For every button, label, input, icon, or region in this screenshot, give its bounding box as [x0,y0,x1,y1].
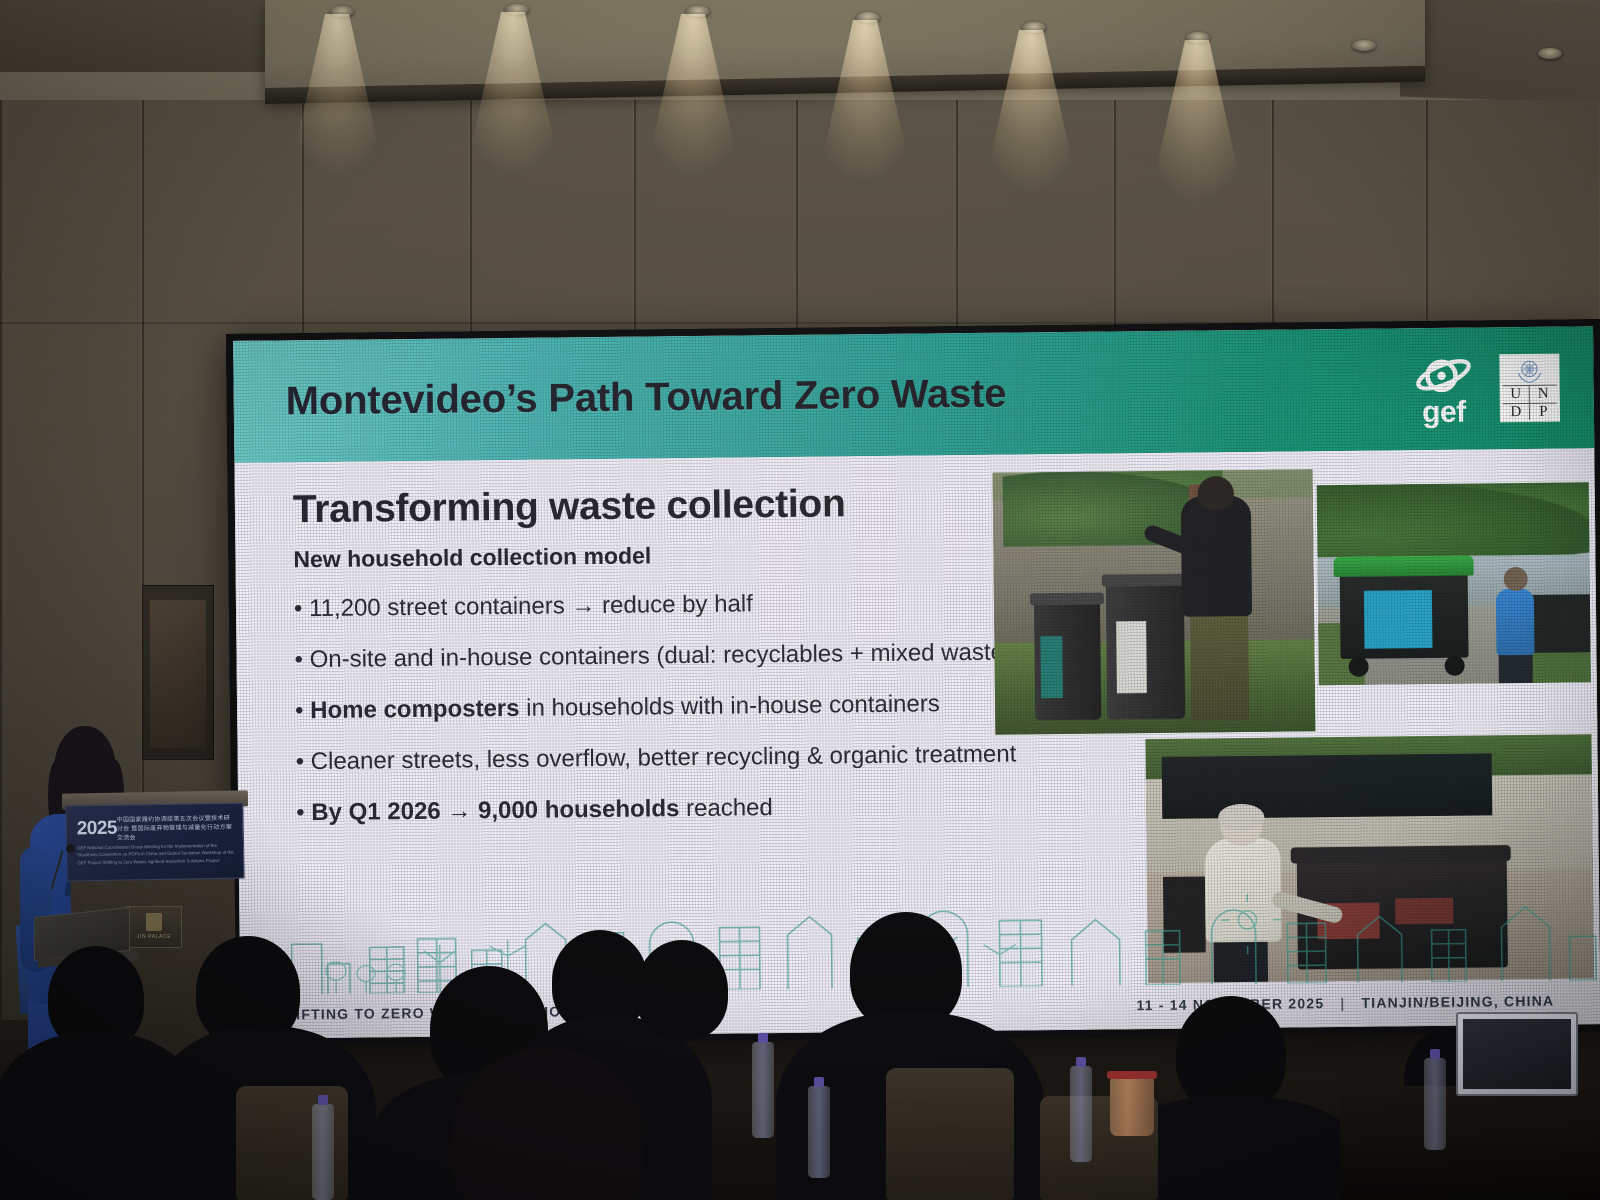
chair-back [886,1068,1014,1200]
slide-footer: SHIFTING TO ZERO WASTE SOLUTIONS WORKSHO… [240,986,1600,1029]
undp-letter-n: N [1530,385,1557,402]
un-emblem-icon [1514,357,1544,385]
ceiling-spotlight-fixture [330,6,354,17]
bullet-item: • By Q1 2026 → 9,000 households reached [296,789,1026,829]
slide-header: Montevideo’s Path Toward Zero Waste gef [233,326,1594,463]
water-bottle [312,1104,334,1200]
bullet-marker: • [296,799,311,826]
water-bottle [752,1042,774,1138]
ceiling-spotlight-fixture [1538,48,1562,59]
undp-logo: U N D P [1499,354,1560,422]
bullet-marker: • [295,748,310,775]
ceiling-right [1400,0,1600,103]
bullet-text: 11,200 street containers → reduce by hal… [309,590,753,622]
undp-letter-p: P [1530,402,1557,419]
podium-banner-chinese-text: 中国国家履约协调组第五次会议暨技术研讨会 暨国际废弃物管理与减量化行动方案交流会 [117,815,235,844]
slide-canvas: Montevideo’s Path Toward Zero Waste gef [233,326,1600,1039]
photo-worker-pushing-container [1317,482,1591,685]
podium: 2025 中国国家履约协调组第五次会议暨技术研讨会 暨国际废弃物管理与减量化行动… [0,700,270,1120]
undp-letters: U N D P [1503,385,1557,420]
bullet-text: Cleaner streets, less overflow, better r… [311,740,1017,775]
ceiling-spotlight-fixture [1352,40,1376,51]
gef-logo: gef [1411,352,1476,425]
bullet-text: On-site and in-house containers (dual: r… [309,638,1012,673]
microphone-icon [66,844,75,853]
side-table [1340,1086,1600,1200]
slide-heading: Transforming waste collection [293,480,1023,532]
undp-letter-u: U [1503,385,1530,402]
ceiling-spotlight-fixture [856,12,880,23]
photo-woman-at-container [1145,734,1594,983]
bullet-item: • Cleaner streets, less overflow, better… [295,738,1025,778]
logo-row: gef U N D P [1411,351,1560,425]
photo-man-with-bins [993,469,1316,734]
bullet-bold: By Q1 2026 → 9,000 households [311,795,679,826]
undp-letter-d: D [1503,402,1530,419]
slide-subheading: New household collection model [293,538,1023,573]
water-bottle [1424,1058,1446,1150]
water-bottle [1070,1066,1092,1162]
gef-globe-icon [1411,352,1475,399]
podium-banner-english-text: GEF National Coordination Group Meeting … [77,842,235,867]
bullet-item: • 11,200 street containers → reduce by h… [294,585,1024,625]
hotel-emblem-icon [146,913,162,931]
led-presentation-screen: Montevideo’s Path Toward Zero Waste gef [226,319,1600,1046]
bullet-item: • On-site and in-house containers (dual:… [294,636,1024,676]
bullet-marker: • [295,697,310,724]
coffee-cup [1110,1078,1154,1136]
ceiling-spotlight-fixture [1022,22,1046,33]
slide-title: Montevideo’s Path Toward Zero Waste [285,371,1006,424]
bullet-marker: • [294,595,309,622]
bullet-bold: Home composters [310,695,520,724]
footer-workshop-title: SHIFTING TO ZERO WASTE SOLUTIONS WORKSHO… [274,1002,682,1022]
audience-laptop [1456,1012,1578,1096]
gef-wordmark: gef [1422,399,1466,425]
slide-text-column: Transforming waste collection New househ… [293,480,1027,847]
photo-collage [993,466,1595,984]
bullet-text: reached [679,794,773,822]
bullet-text: in households with in-house containers [519,690,940,722]
podium-banner: 2025 中国国家履约协调组第五次会议暨技术研讨会 暨国际废弃物管理与减量化行动… [65,802,244,881]
presenter-laptop [34,912,138,968]
bullet-item: • Home composters in households with in-… [295,687,1025,727]
ceiling-left [0,0,280,72]
water-bottle [808,1086,830,1178]
ceiling-spotlight-fixture [1186,32,1210,43]
ceiling-spotlight-fixture [505,4,529,15]
podium-banner-year: 2025 [77,818,118,841]
footer-separator: | [1340,995,1345,1011]
footer-meta: 11 - 14 NOVEMBER 2025 | TIANJIN/BEIJING,… [1136,993,1554,1014]
footer-location: TIANJIN/BEIJING, CHINA [1361,993,1554,1011]
ceiling-spotlight-fixture [686,6,710,17]
footer-date: 11 - 14 NOVEMBER 2025 [1136,995,1324,1013]
bullet-marker: • [294,646,309,673]
slide-body: Transforming waste collection New househ… [234,448,1600,1039]
